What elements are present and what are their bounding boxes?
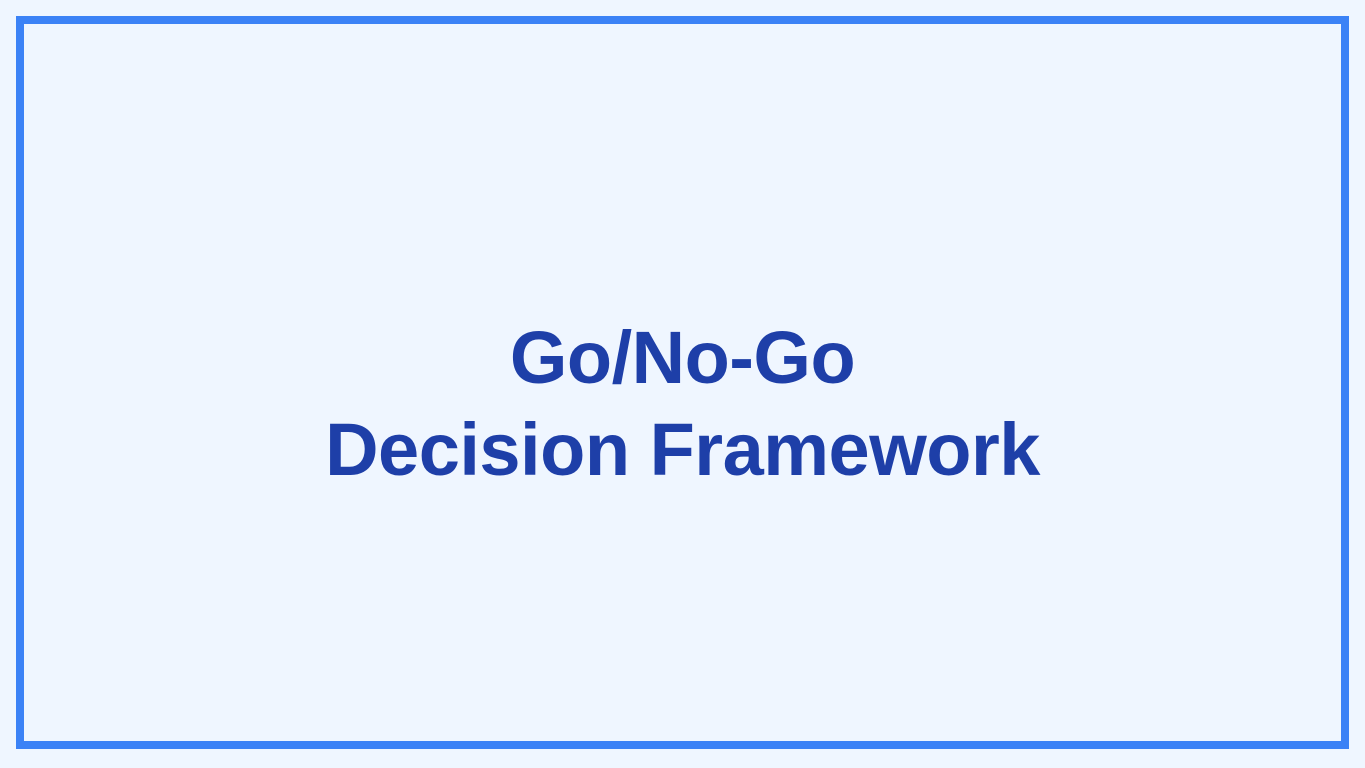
slide-title-line-1: Go/No-Go xyxy=(64,312,1301,404)
slide-canvas: Go/No-Go Decision Framework xyxy=(0,0,1365,768)
slide-title-line-2: Decision Framework xyxy=(64,404,1301,496)
slide-border-frame: Go/No-Go Decision Framework xyxy=(16,16,1349,749)
title-block: Go/No-Go Decision Framework xyxy=(24,312,1341,496)
